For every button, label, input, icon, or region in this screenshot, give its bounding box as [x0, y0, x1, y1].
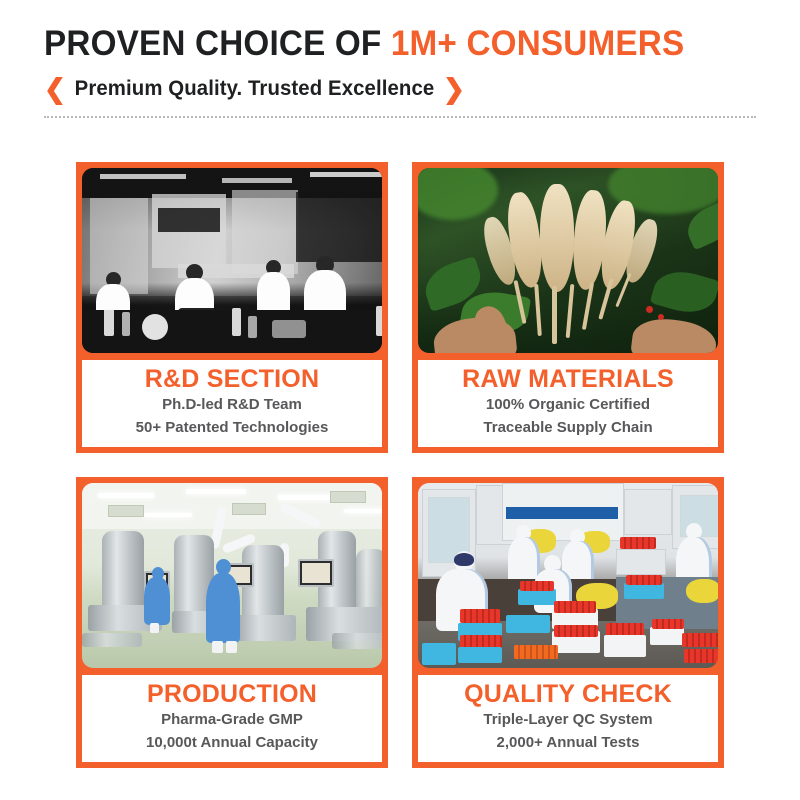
card-caption-quality-check: QUALITY CHECK Triple-Layer QC System 2,0…	[418, 675, 718, 762]
card-caption-production: PRODUCTION Pharma-Grade GMP 10,000t Annu…	[82, 675, 382, 762]
research-laboratory-scientists-image	[82, 168, 382, 353]
bracket-right-icon: ❯	[443, 76, 465, 103]
page-subtitle: ❮ Premium Quality. Trusted Excellence ❯	[44, 76, 735, 103]
card-line-2: Traceable Supply Chain	[483, 417, 652, 438]
header-divider	[44, 116, 756, 118]
cleanroom-production-image	[82, 483, 382, 668]
feature-card-raw-materials[interactable]: RAW MATERIALS 100% Organic Certified Tra…	[412, 162, 724, 453]
feature-card-quality-check[interactable]: QUALITY CHECK Triple-Layer QC System 2,0…	[412, 477, 724, 768]
feature-card-grid: R&D SECTION Ph.D-led R&D Team 50+ Patent…	[76, 162, 724, 768]
page-title: PROVEN CHOICE OF 1M+ CONSUMERS	[44, 26, 720, 62]
quality-control-lab-image	[418, 483, 718, 668]
feature-card-rd-section[interactable]: R&D SECTION Ph.D-led R&D Team 50+ Patent…	[76, 162, 388, 453]
card-line-2: 2,000+ Annual Tests	[497, 732, 640, 753]
card-line-2: 10,000t Annual Capacity	[146, 732, 318, 753]
card-title: RAW MATERIALS	[462, 366, 674, 394]
card-title: PRODUCTION	[147, 681, 317, 709]
card-title: QUALITY CHECK	[464, 681, 672, 709]
card-line-1: Triple-Layer QC System	[483, 709, 652, 730]
card-title: R&D SECTION	[145, 366, 319, 394]
card-caption-rd-section: R&D SECTION Ph.D-led R&D Team 50+ Patent…	[82, 360, 382, 447]
card-line-1: Ph.D-led R&D Team	[162, 394, 302, 415]
page-title-accent: 1M+ CONSUMERS	[391, 24, 684, 63]
card-line-2: 50+ Patented Technologies	[136, 417, 329, 438]
page-title-plain: PROVEN CHOICE OF	[44, 24, 391, 63]
page-subtitle-text: Premium Quality. Trusted Excellence	[75, 77, 435, 101]
feature-card-production[interactable]: PRODUCTION Pharma-Grade GMP 10,000t Annu…	[76, 477, 388, 768]
bracket-left-icon: ❮	[44, 76, 66, 103]
card-line-1: Pharma-Grade GMP	[161, 709, 303, 730]
card-line-1: 100% Organic Certified	[486, 394, 650, 415]
page-header: PROVEN CHOICE OF 1M+ CONSUMERS ❮ Premium…	[0, 0, 800, 103]
ginseng-roots-image	[418, 168, 718, 353]
card-caption-raw-materials: RAW MATERIALS 100% Organic Certified Tra…	[418, 360, 718, 447]
